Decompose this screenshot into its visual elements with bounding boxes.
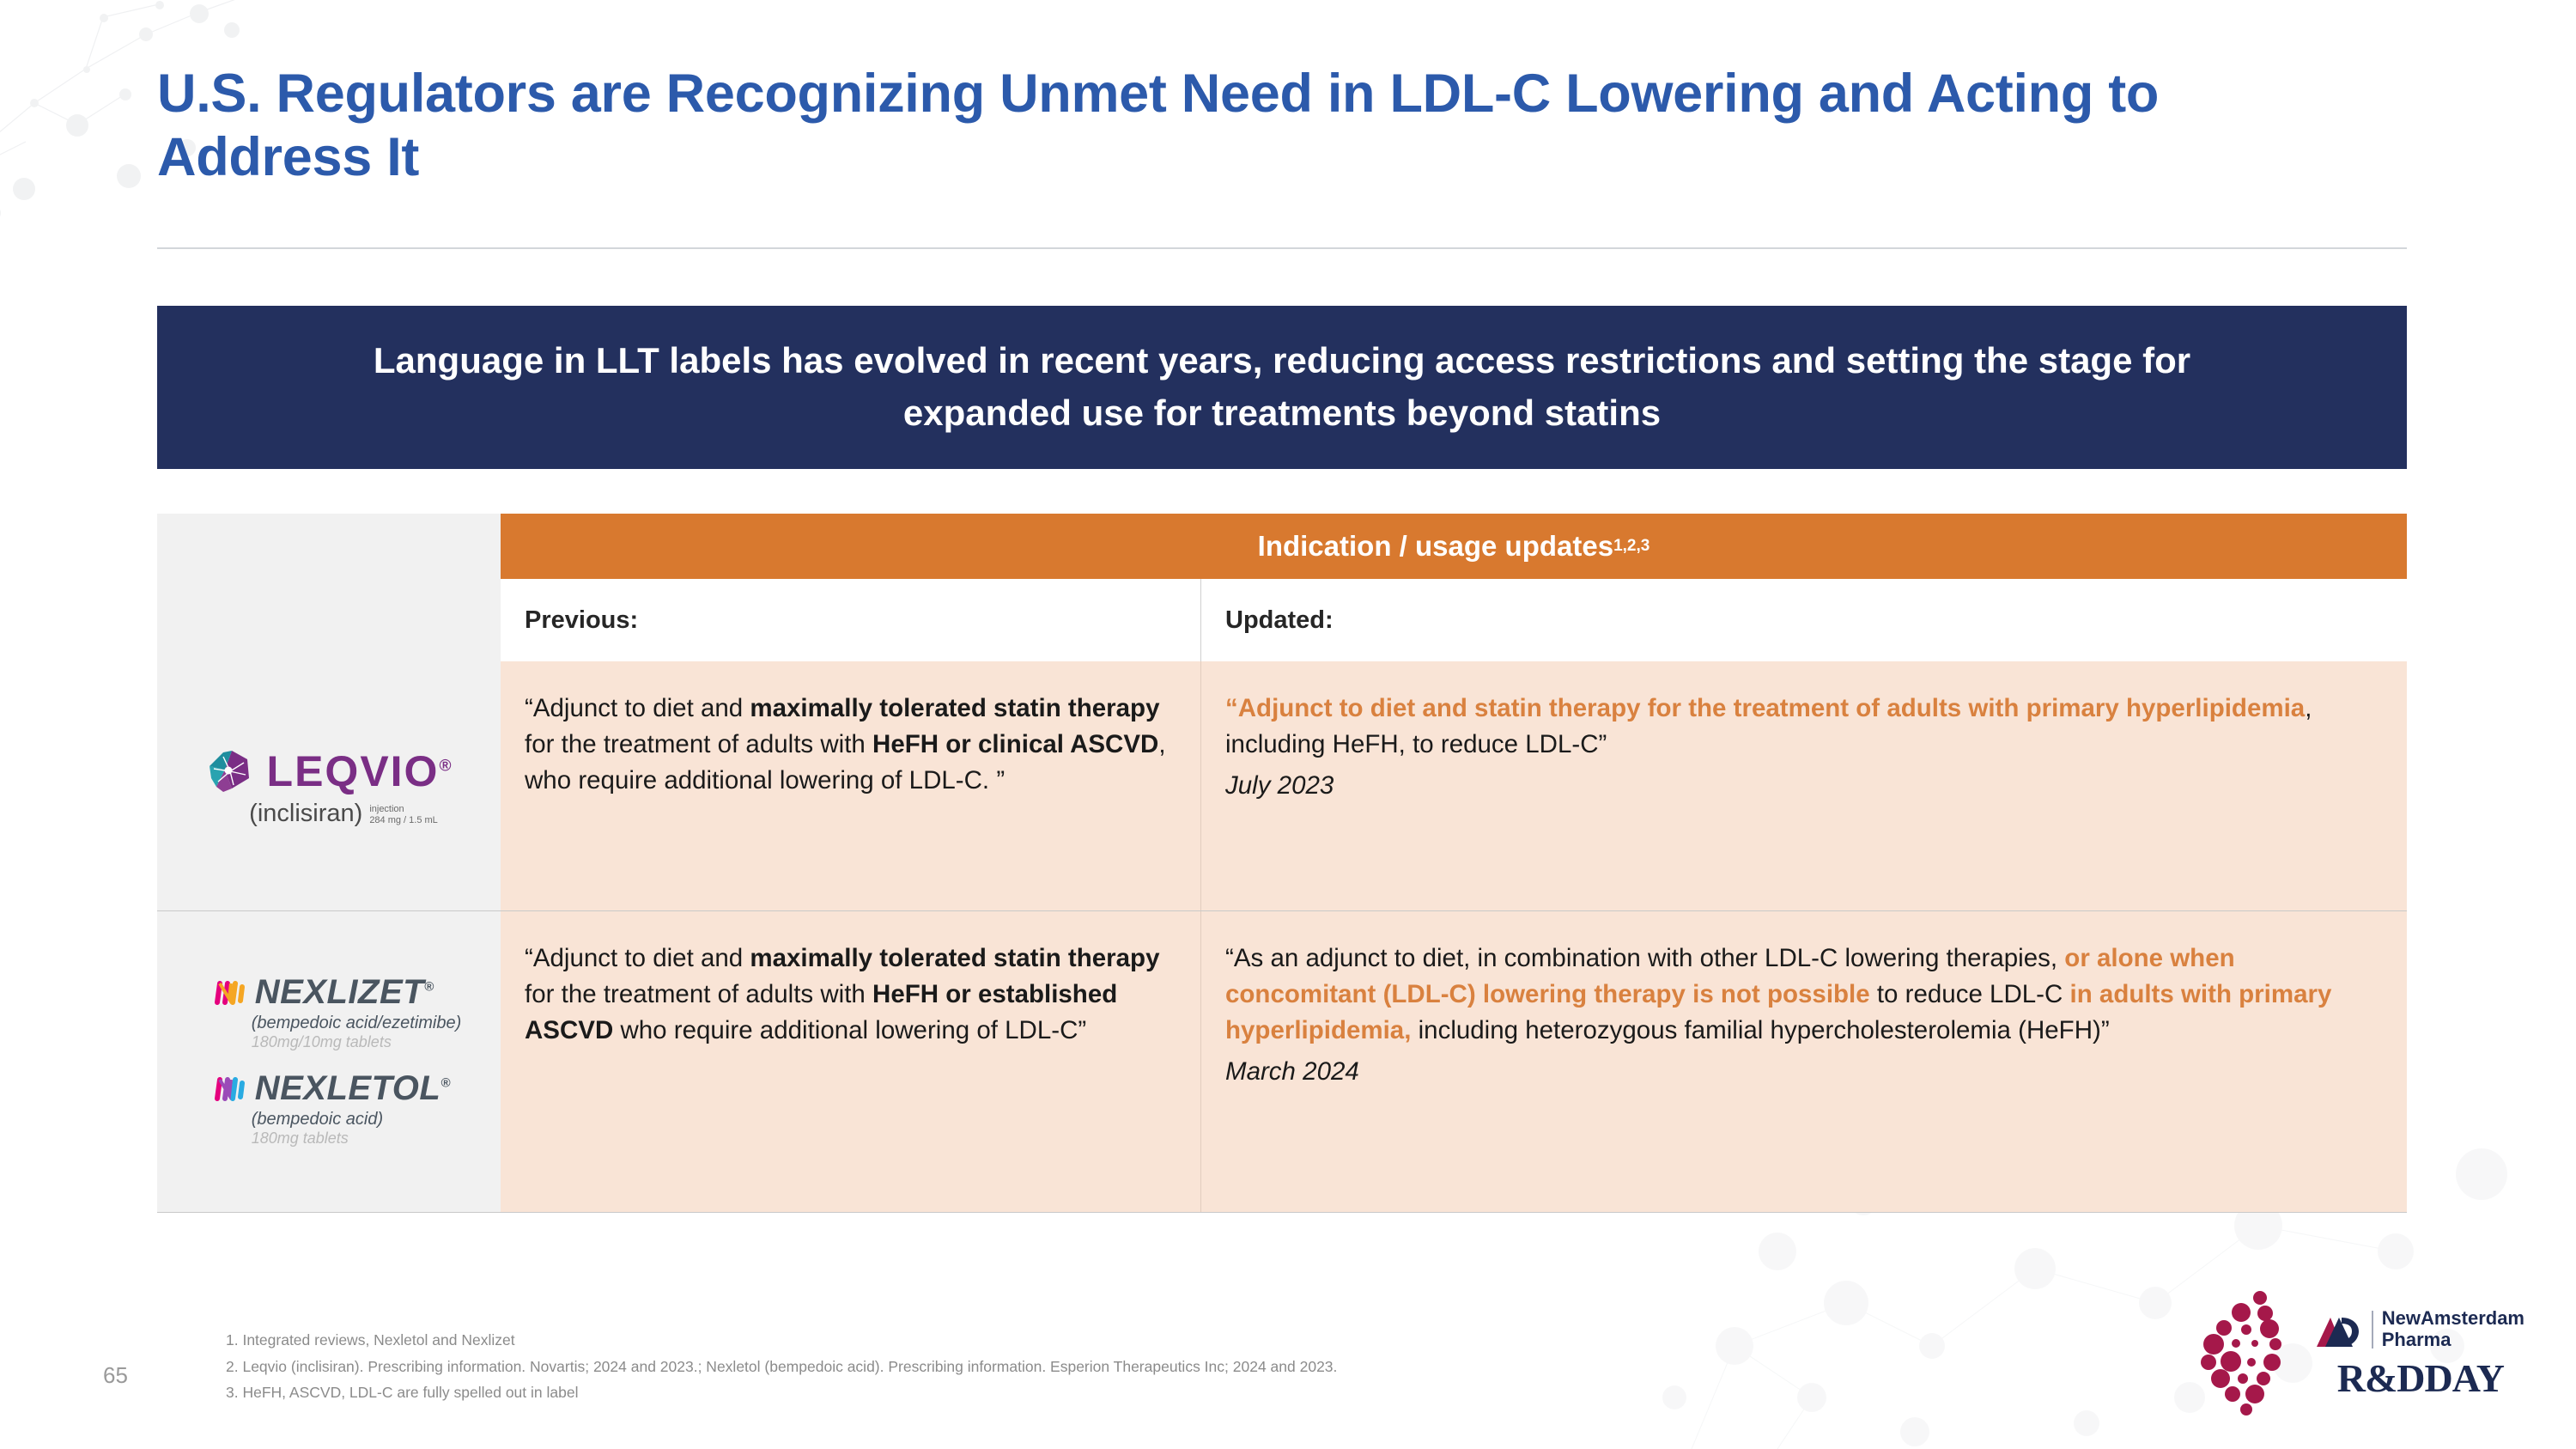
nexletol-mark-icon — [212, 1073, 246, 1104]
newamsterdam-text: NewAmsterdam Pharma — [2382, 1308, 2524, 1350]
indication-updates-table: Indication / usage updates1,2,3 Previous… — [157, 514, 2407, 1213]
nexlizet-dose: 180mg/10mg tablets — [252, 1033, 462, 1052]
leqvio-wordmark: LEQVIO® — [267, 750, 453, 793]
table-header-row: Indication / usage updates1,2,3 — [157, 514, 2407, 579]
leqvio-pinwheel-icon — [205, 746, 255, 796]
table-subheader-row: Previous: Updated: — [157, 579, 2407, 661]
updated-date-nexlizet: March 2024 — [1225, 1054, 2379, 1090]
nexlizet-registered-mark: ® — [424, 980, 434, 995]
table-row: LEQVIO® (inclisiran) injection 284 mg / … — [157, 661, 2407, 910]
page-title: U.S. Regulators are Recognizing Unmet Ne… — [157, 62, 2355, 190]
nexlizet-generic-name: (bempedoic acid/ezetimibe) — [252, 1013, 462, 1033]
text-run: for the treatment of adults with — [525, 980, 872, 1008]
product-logo-leqvio: LEQVIO® (inclisiran) injection 284 mg / … — [157, 661, 501, 910]
text-run: HeFH or clinical ASCVD — [872, 730, 1158, 758]
nexletol-wordmark: NEXLETOL® — [255, 1071, 451, 1105]
text-run: to reduce LDL-C — [1870, 980, 2070, 1008]
nexlizet-name: NEXLIZET — [255, 973, 424, 1011]
text-run: “Adjunct to diet and statin therapy for … — [1225, 694, 2305, 722]
nexletol-registered-mark: ® — [440, 1076, 451, 1091]
key-message-banner: Language in LLT labels has evolved in re… — [157, 306, 2407, 469]
slide-root: U.S. Regulators are Recognizing Unmet Ne… — [0, 0, 2576, 1449]
updated-date-leqvio: July 2023 — [1225, 768, 2379, 804]
leqvio-dose-line1: injection — [369, 804, 438, 815]
leqvio-name: LEQVIO — [267, 747, 440, 795]
cell-previous-nexlizet: “Adjunct to diet and maximally tolerated… — [501, 911, 1200, 1212]
text-run: maximally tolerated statin therapy — [750, 694, 1159, 722]
column-header-previous: Previous: — [501, 579, 1200, 661]
footnotes: 1. Integrated reviews, Nexletol and Nexl… — [226, 1327, 1337, 1406]
newamsterdam-lockup: NewAmsterdam Pharma — [2313, 1307, 2524, 1352]
logo-col-header-spacer — [157, 514, 501, 579]
banner-text: Language in LLT labels has evolved in re… — [346, 335, 2218, 440]
newamsterdam-mountain-icon — [2313, 1307, 2363, 1352]
footnote-3: 3. HeFH, ASCVD, LDL-C are fully spelled … — [226, 1379, 1337, 1406]
text-run: “Adjunct to diet and — [525, 694, 750, 722]
updated-text-nexlizet: “As an adjunct to diet, in combination w… — [1225, 944, 2331, 1044]
table-header-orange: Indication / usage updates1,2,3 — [501, 514, 2407, 579]
company-name-line2: Pharma — [2382, 1330, 2524, 1351]
nexletol-generic-name: (bempedoic acid) — [252, 1109, 451, 1129]
product-logo-nexlizet-nexletol: NEXLIZET® (bempedoic acid/ezetimibe) 180… — [157, 911, 501, 1212]
text-run: “Adjunct to diet and — [525, 944, 750, 972]
table-header-superscript: 1,2,3 — [1613, 537, 1649, 556]
nexletol-lockup: NEXLETOL® (bempedoic acid) 180mg tablets — [212, 1071, 451, 1148]
nexlizet-mark-icon — [212, 977, 246, 1008]
table-header-label: Indication / usage updates — [1258, 530, 1613, 563]
company-name-line1: NewAmsterdam — [2382, 1308, 2524, 1330]
row-separator — [157, 1212, 2407, 1213]
rd-day-wordmark: R&DDAY — [2337, 1355, 2504, 1401]
leqvio-generic-name: (inclisiran) — [249, 801, 362, 826]
footnote-2: 2. Leqvio (inclisiran). Prescribing info… — [226, 1354, 1337, 1380]
cell-updated-nexlizet: “As an adjunct to diet, in combination w… — [1200, 911, 2407, 1212]
leqvio-lockup: LEQVIO® (inclisiran) injection 284 mg / … — [205, 746, 453, 826]
updated-text-leqvio: “Adjunct to diet and statin therapy for … — [1225, 694, 2312, 758]
text-run: for the treatment of adults with — [525, 730, 872, 758]
cell-previous-leqvio: “Adjunct to diet and maximally tolerated… — [501, 661, 1200, 910]
text-run: “As an adjunct to diet, in combination w… — [1225, 944, 2064, 972]
leqvio-dose: injection 284 mg / 1.5 mL — [369, 804, 438, 825]
table-row: NEXLIZET® (bempedoic acid/ezetimibe) 180… — [157, 911, 2407, 1212]
footnote-1: 1. Integrated reviews, Nexletol and Nexl… — [226, 1327, 1337, 1354]
text-run: including heterozygous familial hypercho… — [1411, 1016, 2109, 1044]
cell-updated-leqvio: “Adjunct to diet and statin therapy for … — [1200, 661, 2407, 910]
logo-col-subheader-spacer — [157, 579, 501, 661]
text-run: maximally tolerated statin therapy — [750, 944, 1159, 972]
crimson-dot-cluster-icon — [2198, 1289, 2301, 1418]
column-header-updated: Updated: — [1200, 579, 2407, 661]
nexletol-name: NEXLETOL — [255, 1069, 441, 1107]
page-number: 65 — [103, 1362, 128, 1389]
nexlizet-lockup: NEXLIZET® (bempedoic acid/ezetimibe) 180… — [212, 975, 462, 1052]
leqvio-registered-mark: ® — [439, 757, 453, 775]
brand-logo: NewAmsterdam Pharma R&DDAY — [2198, 1289, 2524, 1418]
text-run: who require additional lowering of LDL-C… — [613, 1016, 1086, 1044]
nexletol-dose: 180mg tablets — [252, 1129, 451, 1148]
nexlizet-wordmark: NEXLIZET® — [255, 975, 434, 1009]
title-divider — [157, 247, 2407, 249]
leqvio-dose-line2: 284 mg / 1.5 mL — [369, 815, 438, 826]
